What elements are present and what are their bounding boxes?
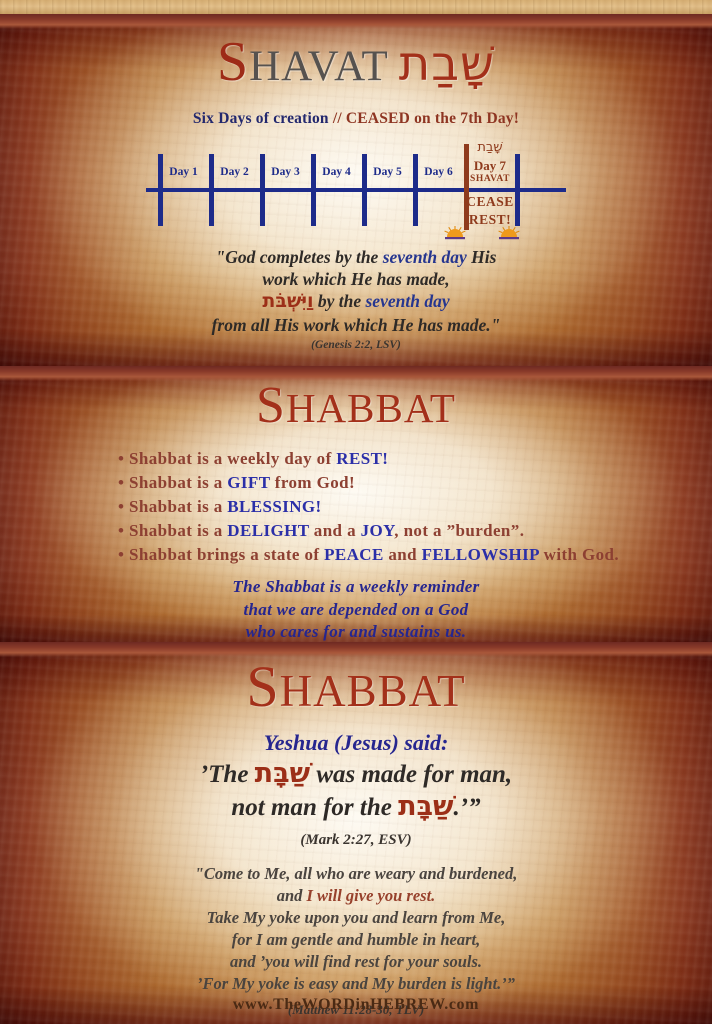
bullet-segment: PEACE <box>324 545 384 564</box>
genesis-line-3: וַיִּשְׁבֹּת by the seventh day <box>121 290 591 314</box>
matthew-quote: "Come to Me, all who are weary and burde… <box>56 863 656 996</box>
matthew-line-6: ’For My yoke is easy and My burden is li… <box>56 973 656 995</box>
mark-line1c: was made for man, <box>310 761 512 788</box>
bullet-segment: Shabbat is a <box>129 473 227 492</box>
closing-line-1: The Shabbat is a weekly reminder <box>116 576 596 598</box>
timeline-tick-day-1 <box>158 154 163 226</box>
mark-line-1: ’The שַׁבָּת was made for man, <box>56 758 656 791</box>
timeline-label-day-5: Day 5 <box>365 166 410 178</box>
shabbat-bullet-2: Shabbat is a GIFT from God! <box>118 472 712 494</box>
bullet-segment: BLESSING! <box>227 497 321 516</box>
bullet-segment: GIFT <box>227 473 270 492</box>
timeline-label-day-4: Day 4 <box>314 166 359 178</box>
bullet-segment: , not a ”burden”. <box>394 521 524 540</box>
bullet-segment: FELLOWSHIP <box>422 545 539 564</box>
mark-hebrew-1: שַׁבָּת <box>255 758 310 789</box>
closing-line-3: who cares for and sustains us. <box>116 621 596 642</box>
mark-citation: (Mark 2:27, ESV) <box>0 832 712 849</box>
footer-website-url[interactable]: www.TheWORDinHEBREW.com <box>0 996 712 1014</box>
timeline-day7-hebrew: שָׁבַת <box>452 140 528 155</box>
genesis-line-2: work which He has made, <box>121 268 591 290</box>
timeline-day7-label: Day 7 <box>452 158 528 174</box>
section-shavat: SHAVATשָׁבַת Six Days of creation // CEA… <box>0 14 712 366</box>
section-divider-band <box>0 642 712 657</box>
title-rest: HAVAT <box>249 43 389 90</box>
shabbat-bullet-1: Shabbat is a weekly day of REST! <box>118 448 712 470</box>
bullet-segment: REST! <box>336 449 388 468</box>
timeline-tick-day-5 <box>362 154 367 226</box>
timeline-day7-cease: CEASE <box>452 194 528 210</box>
mark-line-2: not man for the שַׁבָּת.’” <box>56 791 656 824</box>
bullet-segment: and a <box>309 521 360 540</box>
wood-border-top <box>0 0 712 15</box>
timeline-label-day-2: Day 2 <box>212 166 257 178</box>
shabbat-bullet-4: Shabbat is a DELIGHT and a JOY, not a ”b… <box>118 520 712 542</box>
title-hebrew: שָׁבַת <box>399 36 495 92</box>
genesis-hebrew: וַיִּשְׁבֹּת <box>262 290 313 312</box>
bullet-segment: and <box>384 545 422 564</box>
section-shabbat-list: SHABBAT Shabbat is a weekly day of REST!… <box>0 366 712 642</box>
bullet-segment: Shabbat is a weekly day of <box>129 449 336 468</box>
mark-hebrew-2: שַׁבָּת <box>398 791 453 822</box>
section-divider-band <box>0 14 712 29</box>
timeline-tick-day-3 <box>260 154 265 226</box>
closing-line-2: that we are depended on a God <box>116 599 596 621</box>
section-shabbat-yeshua: SHABBAT Yeshua (Jesus) said: ’The שַׁבָּ… <box>0 642 712 1024</box>
genesis-quote: "God completes by the seventh day His wo… <box>121 246 591 336</box>
genesis-line1b: seventh day <box>383 247 467 267</box>
heading-cap: S <box>246 654 279 719</box>
bullet-segment: DELIGHT <box>227 521 309 540</box>
timeline-label-day-1: Day 1 <box>161 166 206 178</box>
subtitle-blue: Six Days of creation <box>193 110 329 127</box>
matthew-line-5: and ’you will find rest for your souls. <box>56 951 656 973</box>
genesis-line1c: His <box>467 247 497 267</box>
timeline-tick-day-2 <box>209 154 214 226</box>
sunrise-icon <box>442 226 468 240</box>
timeline-label-day-3: Day 3 <box>263 166 308 178</box>
bullet-segment: with God. <box>539 545 619 564</box>
genesis-line-4: from all His work which He has made." <box>121 314 591 336</box>
genesis-line-1: "God completes by the seventh day His <box>121 246 591 268</box>
shabbat-bullet-list: Shabbat is a weekly day of REST!Shabbat … <box>0 448 712 566</box>
genesis-line3b: by the <box>313 291 365 311</box>
genesis-line1a: "God completes by the <box>216 247 383 267</box>
timeline-tick-day-4 <box>311 154 316 226</box>
genesis-citation: (Genesis 2:2, LSV) <box>0 339 712 351</box>
heading-rest: HABBAT <box>280 666 466 716</box>
shabbat-bullet-5: Shabbat brings a state of PEACE and FELL… <box>118 544 712 566</box>
mark-line1a: ’The <box>200 761 255 788</box>
bullet-segment: Shabbat is a <box>129 497 227 516</box>
mark-line2c: .’” <box>454 794 481 821</box>
matthew-line-4: for I am gentle and humble in heart, <box>56 929 656 951</box>
heading-rest: HABBAT <box>286 385 456 431</box>
creation-week-timeline: Day 1Day 2Day 3Day 4Day 5Day 6שָׁבַתDay … <box>146 140 566 236</box>
matthew-line2b-emphasis: I will give you rest. <box>307 886 436 905</box>
matthew-line-1: "Come to Me, all who are weary and burde… <box>56 863 656 885</box>
bullet-segment: Shabbat brings a state of <box>129 545 324 564</box>
sunrise-icon <box>496 226 522 240</box>
timeline-tick-day-6 <box>413 154 418 226</box>
mark-line2a: not man for the <box>231 794 398 821</box>
title-cap: S <box>217 31 249 93</box>
shabbat-bullet-3: Shabbat is a BLESSING! <box>118 496 712 518</box>
section-divider-band <box>0 366 712 381</box>
matthew-line-2: and I will give you rest. <box>56 885 656 907</box>
genesis-line3c: seventh day <box>366 291 450 311</box>
bullet-segment: JOY <box>361 521 395 540</box>
heading-cap: S <box>256 377 286 434</box>
poster-root: SHAVATשָׁבַת Six Days of creation // CEA… <box>0 0 712 1024</box>
yeshua-attribution: Yeshua (Jesus) said: <box>0 730 712 756</box>
bullet-segment: Shabbat is a <box>129 521 227 540</box>
mark-quote: ’The שַׁבָּת was made for man, not man f… <box>56 758 656 824</box>
bullet-segment: from God! <box>270 473 355 492</box>
timeline-day7-transliteration: SHAVAT <box>452 174 528 184</box>
matthew-line-3: Take My yoke upon you and learn from Me, <box>56 907 656 929</box>
matthew-line2a: and <box>277 886 307 905</box>
subtitle-red: // CEASED on the 7th Day! <box>333 110 519 127</box>
shabbat-closing-statement: The Shabbat is a weekly reminder that we… <box>116 576 596 642</box>
subtitle: Six Days of creation // CEASED on the 7t… <box>0 110 712 128</box>
